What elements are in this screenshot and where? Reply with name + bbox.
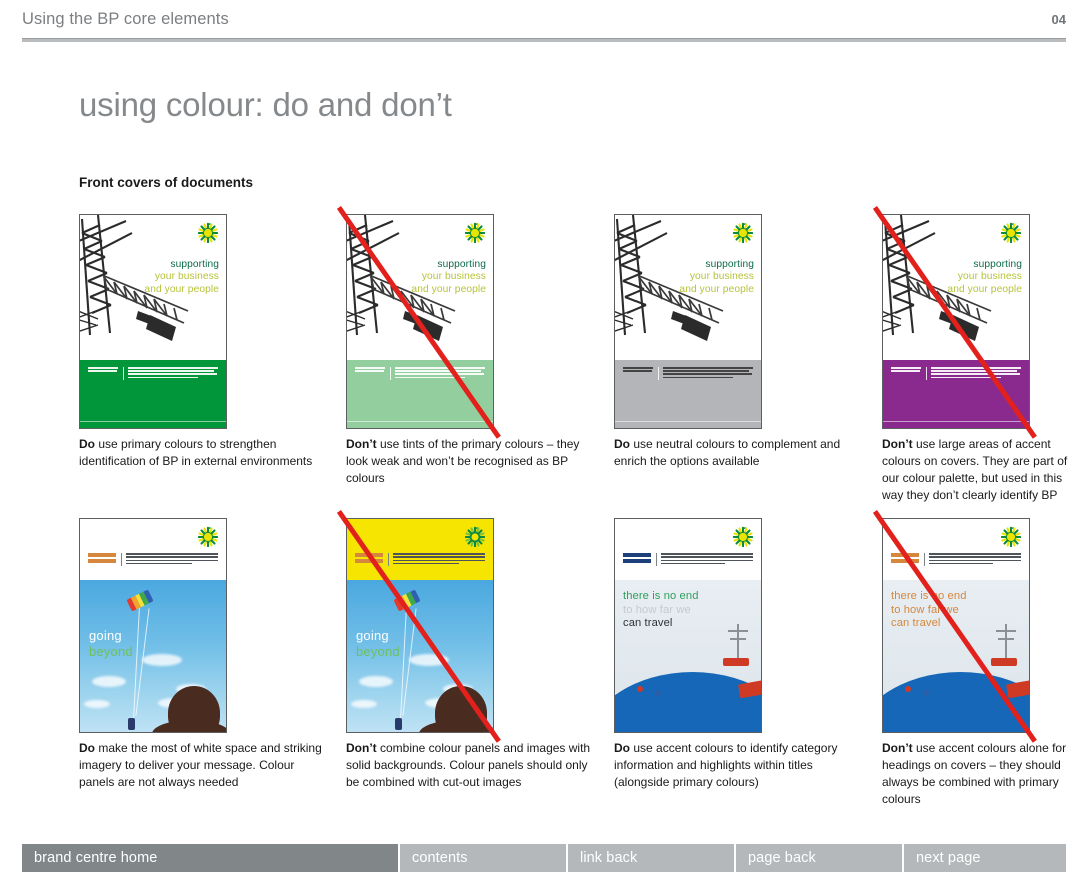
microcopy-line — [891, 367, 921, 369]
cover-headline: supporting your business and your people — [144, 259, 219, 296]
cover-headline: going beyond — [356, 628, 400, 660]
header-page-number: 04 — [1052, 12, 1066, 27]
colour-panel — [347, 360, 493, 428]
headline-line: to how far we — [891, 604, 967, 618]
nav-label: contents — [412, 850, 468, 866]
microcopy-line — [395, 367, 485, 369]
cover-artwork: there is no end to how far we can travel — [883, 519, 1029, 732]
cover-artwork: supporting your business and your people — [615, 215, 761, 428]
headline-line: beyond — [89, 644, 133, 660]
panel-rule — [347, 421, 493, 422]
caption-lead: Do — [614, 437, 630, 451]
headline-line: there is no end — [891, 590, 967, 604]
headline-line: going — [89, 628, 133, 644]
caption-text: combine colour panels and images with so… — [346, 741, 590, 789]
cover-caption: Do make the most of white space and stri… — [79, 740, 329, 791]
microcopy-line — [128, 370, 214, 372]
caption-lead: Don’t — [882, 741, 913, 755]
nav-label: next page — [916, 850, 981, 866]
slide-page: Using the BP core elements 04 using colo… — [0, 0, 1088, 894]
footer-nav: brand centre homecontentslink backpage b… — [22, 844, 1066, 872]
microcopy-line — [931, 373, 1020, 375]
headline-line: there is no end — [623, 590, 699, 604]
document-cover-cover-accent-headings-ship[interactable]: there is no end to how far we can travel — [614, 518, 762, 733]
nav-next-page[interactable]: next page — [904, 844, 1066, 872]
panel-rule — [80, 421, 226, 422]
page-header: Using the BP core elements 04 — [0, 0, 1088, 42]
microcopy-badge — [355, 553, 383, 557]
section-label: Front covers of documents — [79, 175, 253, 190]
caption-lead: Don’t — [882, 437, 913, 451]
cover-caption: Do use accent colours to identify catego… — [614, 740, 864, 791]
microcopy-line — [355, 367, 385, 369]
panel-microcopy — [88, 553, 218, 566]
cloud — [92, 676, 126, 687]
header-title: Using the BP core elements — [22, 10, 229, 29]
ship-mast-arm — [730, 638, 746, 640]
panel-microcopy — [891, 553, 1021, 566]
cover-artwork: supporting your business and your people — [347, 215, 493, 428]
document-cover-cover-primary-green[interactable]: supporting your business and your people — [79, 214, 227, 429]
microcopy-badge — [355, 559, 383, 563]
document-cover-cover-accent-only-ship[interactable]: there is no end to how far we can travel — [882, 518, 1030, 733]
panel-rule — [615, 421, 761, 422]
microcopy-line — [128, 373, 217, 375]
cloud — [351, 700, 377, 708]
ship-deck — [991, 658, 1017, 666]
microcopy-line — [929, 560, 1021, 562]
ship-hull — [615, 672, 761, 732]
cover-artwork: going beyond — [347, 519, 493, 732]
microcopy-line — [393, 560, 485, 562]
cover-artwork: going beyond — [80, 519, 226, 732]
document-cover-cover-yellow-panel-kite[interactable]: going beyond — [346, 518, 494, 733]
cover-caption: Don’t combine colour panels and images w… — [346, 740, 596, 791]
microcopy-line — [929, 553, 1021, 555]
cloud — [142, 654, 182, 666]
microcopy-line — [126, 556, 218, 558]
buoy — [655, 690, 661, 696]
colour-panel — [883, 360, 1029, 428]
ship-deck — [723, 658, 749, 666]
cover-caption: Don’t use accent colours alone for headi… — [882, 740, 1082, 808]
buoy — [923, 690, 929, 696]
sky-photo: going beyond — [80, 580, 226, 732]
headline-line: and your people — [679, 284, 754, 296]
caption-lead: Don’t — [346, 741, 377, 755]
document-cover-cover-white-space-kite[interactable]: going beyond — [79, 518, 227, 733]
buoy — [637, 686, 643, 692]
microcopy-line — [931, 377, 1001, 379]
microcopy-badge — [623, 553, 651, 557]
headline-line: and your people — [144, 284, 219, 296]
headline-line: can travel — [623, 617, 699, 631]
headline-line: supporting — [947, 259, 1022, 271]
microcopy-badge — [891, 553, 919, 557]
microcopy-line — [126, 553, 218, 555]
colour-panel — [615, 360, 761, 428]
cover-headline: supporting your business and your people — [947, 259, 1022, 296]
microcopy-line — [661, 560, 753, 562]
headline-line: your business — [411, 271, 486, 283]
person-silhouette — [435, 686, 487, 732]
cover-headline: supporting your business and your people — [411, 259, 486, 296]
sky-photo: going beyond — [347, 580, 493, 732]
bp-helios-logo-icon — [465, 222, 485, 243]
headline-line: to how far we — [623, 604, 699, 618]
microcopy-line — [931, 367, 1021, 369]
microcopy-line — [393, 553, 485, 555]
bp-helios-logo-icon — [1001, 222, 1021, 243]
ship-photo: there is no end to how far we can travel — [615, 580, 761, 732]
microcopy-line — [88, 367, 118, 369]
cloud — [409, 654, 449, 666]
headline-line: your business — [947, 271, 1022, 283]
cover-caption: Don’t use large areas of accent colours … — [882, 436, 1082, 504]
person-silhouette — [168, 686, 220, 732]
kite-handle — [128, 718, 135, 730]
panel-microcopy — [623, 553, 753, 566]
microcopy-badge — [88, 553, 116, 557]
colour-panel — [80, 360, 226, 428]
panel-rule — [883, 421, 1029, 422]
microcopy-line — [126, 563, 192, 565]
bp-helios-logo-icon — [198, 222, 218, 243]
ship-mast-arm — [728, 630, 748, 632]
headline-line: your business — [679, 271, 754, 283]
microcopy-line — [395, 370, 481, 372]
nav-label: page back — [748, 850, 816, 866]
microcopy-line — [663, 373, 752, 375]
microcopy-line — [395, 377, 465, 379]
ship-mast-arm — [996, 630, 1016, 632]
panel-microcopy — [88, 367, 218, 380]
header-divider — [22, 38, 1066, 42]
headline-line: and your people — [947, 284, 1022, 296]
microcopy-line — [623, 370, 652, 372]
ship-mast-arm — [998, 638, 1014, 640]
microcopy-line — [663, 367, 753, 369]
microcopy-line — [623, 367, 653, 369]
bp-helios-logo-icon — [1001, 526, 1021, 547]
microcopy-line — [128, 377, 198, 379]
document-cover-cover-accent-purple[interactable]: supporting your business and your people — [882, 214, 1030, 429]
cover-caption: Do use neutral colours to complement and… — [614, 436, 864, 470]
microcopy-line — [661, 553, 753, 555]
ship-photo: there is no end to how far we can travel — [883, 580, 1029, 732]
cover-caption: Do use primary colours to strengthen ide… — [79, 436, 329, 470]
caption-text: use tints of the primary colours – they … — [346, 437, 579, 485]
microcopy-line — [661, 556, 753, 558]
headline-line: supporting — [679, 259, 754, 271]
microcopy-line — [663, 370, 749, 372]
cover-headline: supporting your business and your people — [679, 259, 754, 296]
headline-line: supporting — [144, 259, 219, 271]
caption-text: use accent colours to identify category … — [614, 741, 837, 789]
headline-line: your business — [144, 271, 219, 283]
cloud — [84, 700, 110, 708]
nav-brand-centre-home[interactable]: brand centre home — [22, 844, 400, 872]
headline-line: can travel — [891, 617, 967, 631]
nav-label: brand centre home — [34, 850, 157, 866]
microcopy-badge — [88, 559, 116, 563]
panel-microcopy — [355, 367, 485, 380]
buoy — [905, 686, 911, 692]
nav-label: link back — [580, 850, 637, 866]
headline-line: supporting — [411, 259, 486, 271]
panel-microcopy — [623, 367, 753, 380]
microcopy-line — [891, 370, 920, 372]
caption-lead: Do — [79, 437, 95, 451]
caption-text: use primary colours to strengthen identi… — [79, 437, 312, 468]
microcopy-line — [126, 560, 218, 562]
nav-link-back[interactable]: link back — [568, 844, 736, 872]
cover-artwork: there is no end to how far we can travel — [615, 519, 761, 732]
microcopy-line — [395, 373, 484, 375]
microcopy-line — [393, 563, 459, 565]
bp-helios-logo-icon — [198, 526, 218, 547]
microcopy-line — [929, 556, 1021, 558]
headline-line: beyond — [356, 644, 400, 660]
microcopy-line — [663, 377, 733, 379]
microcopy-line — [88, 370, 117, 372]
headline-line: going — [356, 628, 400, 644]
panel-microcopy — [891, 367, 1021, 380]
cloud — [359, 676, 393, 687]
cover-artwork: supporting your business and your people — [883, 215, 1029, 428]
document-cover-cover-green-tint[interactable]: supporting your business and your people — [346, 214, 494, 429]
microcopy-line — [661, 563, 725, 565]
bp-helios-logo-icon — [733, 222, 753, 243]
caption-lead: Don’t — [346, 437, 377, 451]
cover-artwork: supporting your business and your people — [80, 215, 226, 428]
cover-headline: going beyond — [89, 628, 133, 660]
microcopy-badge — [623, 559, 651, 563]
microcopy-line — [355, 370, 384, 372]
microcopy-line — [393, 556, 485, 558]
nav-contents[interactable]: contents — [400, 844, 568, 872]
kite-handle — [395, 718, 402, 730]
bp-helios-logo-icon — [733, 526, 753, 547]
caption-lead: Do — [614, 741, 630, 755]
nav-page-back[interactable]: page back — [736, 844, 904, 872]
microcopy-line — [929, 563, 993, 565]
caption-text: use neutral colours to complement and en… — [614, 437, 840, 468]
cover-headline: there is no end to how far we can travel — [891, 590, 967, 631]
microcopy-line — [128, 367, 218, 369]
cover-headline: there is no end to how far we can travel — [623, 590, 699, 631]
caption-lead: Do — [79, 741, 95, 755]
ship-hull — [883, 672, 1029, 732]
microcopy-badge — [891, 559, 919, 563]
microcopy-line — [931, 370, 1017, 372]
headline-line: and your people — [411, 284, 486, 296]
panel-microcopy — [355, 553, 485, 566]
document-cover-cover-neutral-grey[interactable]: supporting your business and your people — [614, 214, 762, 429]
bp-helios-logo-icon — [465, 526, 485, 547]
caption-text: make the most of white space and strikin… — [79, 741, 322, 789]
cover-caption: Don’t use tints of the primary colours –… — [346, 436, 596, 487]
page-title: using colour: do and don’t — [79, 86, 452, 124]
